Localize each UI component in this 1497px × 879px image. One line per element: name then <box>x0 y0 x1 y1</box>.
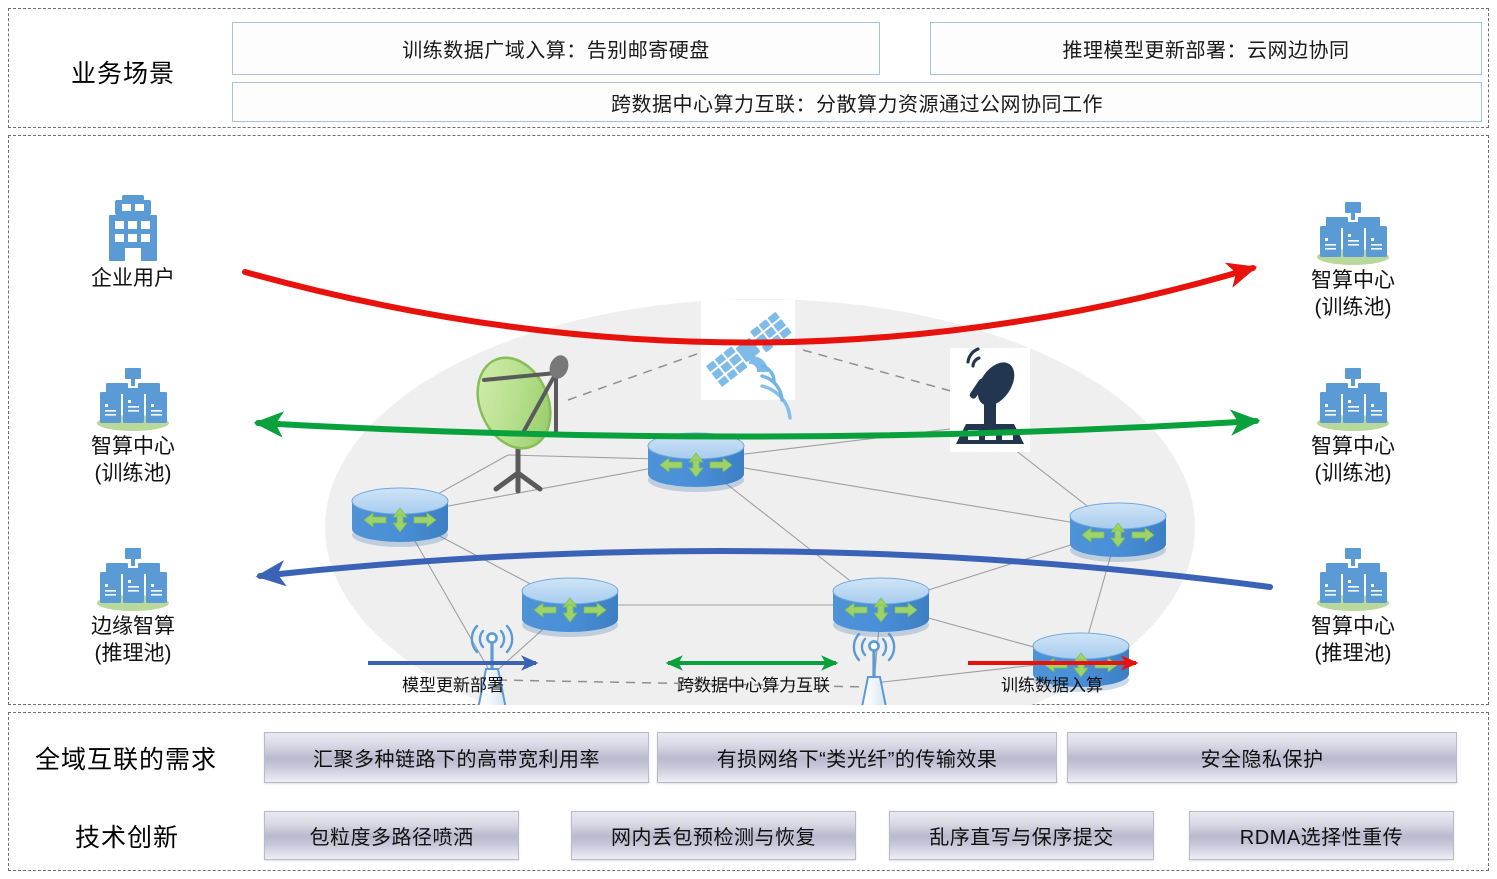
legend-label-cross-dc: 跨数据中心算力互联 <box>677 671 827 696</box>
node-label-line1: 智算中心 <box>1278 269 1428 293</box>
legend-item-cross-dc: 跨数据中心算力互联 <box>677 670 827 696</box>
datacenter-servers-icon <box>1278 358 1428 432</box>
requirement-item-2[interactable]: 有损网络下“类光纤”的传输效果 <box>657 732 1057 783</box>
innovation-item-1[interactable]: 包粒度多路径喷洒 <box>264 811 519 860</box>
requirements-section-label: 全域互联的需求 <box>35 740 217 776</box>
node-left-training-dc[interactable]: 智算中心 (训练池) <box>58 358 208 486</box>
node-label-line1: 边缘智算 <box>58 615 208 639</box>
innovation-item-4[interactable]: RDMA选择性重传 <box>1189 811 1454 860</box>
node-label-line2: (训练池) <box>1278 296 1428 320</box>
node-enterprise-user[interactable]: 企业用户 <box>58 190 208 294</box>
legend-label-training-data: 训练数据入算 <box>977 671 1127 696</box>
scenario-section: 业务场景 训练数据广域入算：告别邮寄硬盘 推理模型更新部署：云网边协同 跨数据中… <box>8 8 1489 128</box>
requirement-item-3[interactable]: 安全隐私保护 <box>1067 732 1457 783</box>
diagram-page: 业务场景 训练数据广域入算：告别邮寄硬盘 推理模型更新部署：云网边协同 跨数据中… <box>0 0 1497 879</box>
node-right-training-dc-1[interactable]: 智算中心 (训练池) <box>1278 192 1428 320</box>
legend-item-model-update: 模型更新部署 <box>378 670 528 696</box>
innovation-item-2[interactable]: 网内丢包预检测与恢复 <box>571 811 856 860</box>
legend-label-model-update: 模型更新部署 <box>378 671 528 696</box>
innovation-item-3[interactable]: 乱序直写与保序提交 <box>889 811 1154 860</box>
datacenter-servers-icon <box>58 358 208 432</box>
requirement-item-1[interactable]: 汇聚多种链路下的高带宽利用率 <box>264 732 649 783</box>
node-label-line1: 企业用户 <box>58 267 208 291</box>
node-right-training-dc-2[interactable]: 智算中心 (训练池) <box>1278 358 1428 486</box>
node-label-line1: 智算中心 <box>1278 435 1428 459</box>
node-label-line2: (推理池) <box>58 642 208 666</box>
network-diagram: 广域智联网络 模型更新部署 跨数据中心算力互联 训练数据入算 <box>8 135 1489 705</box>
node-label-line1: 智算中心 <box>58 435 208 459</box>
office-building-icon <box>58 190 208 264</box>
datacenter-servers-icon <box>58 538 208 612</box>
datacenter-servers-icon <box>1278 538 1428 612</box>
node-right-inference-dc[interactable]: 智算中心 (推理池) <box>1278 538 1428 666</box>
scenario-box-3[interactable]: 跨数据中心算力互联：分散算力资源通过公网协同工作 <box>232 82 1482 122</box>
node-label-line2: (训练池) <box>1278 462 1428 486</box>
datacenter-servers-icon <box>1278 192 1428 266</box>
network-canvas <box>8 135 1489 705</box>
node-edge-inference[interactable]: 边缘智算 (推理池) <box>58 538 208 666</box>
innovation-section-label: 技术创新 <box>75 818 179 854</box>
scenario-box-2[interactable]: 推理模型更新部署：云网边协同 <box>930 22 1482 75</box>
scenario-section-label: 业务场景 <box>71 54 175 90</box>
legend-item-training-data: 训练数据入算 <box>977 670 1127 696</box>
node-label-line2: (推理池) <box>1278 642 1428 666</box>
scenario-box-1[interactable]: 训练数据广域入算：告别邮寄硬盘 <box>232 22 880 75</box>
node-label-line2: (训练池) <box>58 462 208 486</box>
bottom-section: 全域互联的需求 汇聚多种链路下的高带宽利用率 有损网络下“类光纤”的传输效果 安… <box>8 712 1489 871</box>
node-label-line1: 智算中心 <box>1278 615 1428 639</box>
